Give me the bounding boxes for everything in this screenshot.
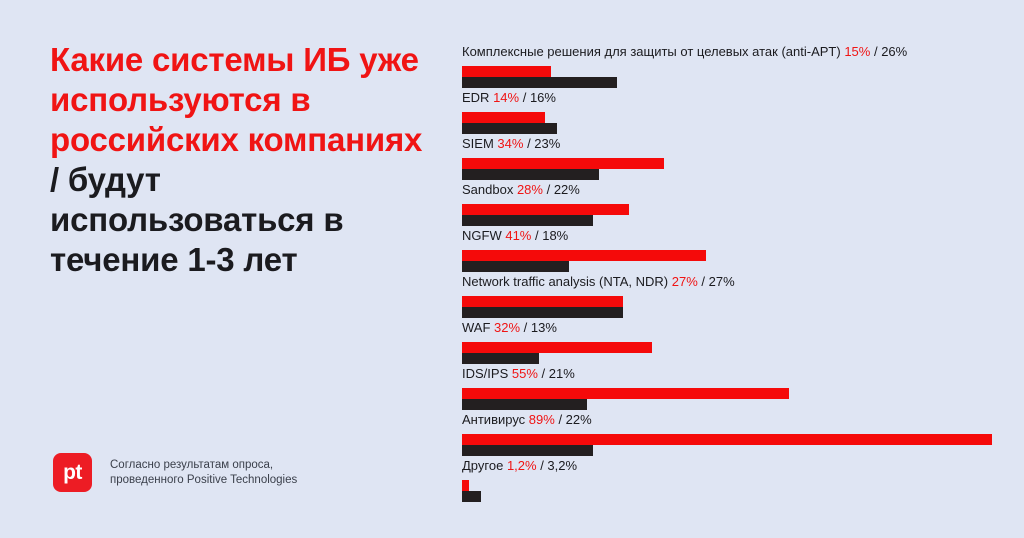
chart-row-planned-value: 22% (554, 182, 580, 197)
bar-current (462, 66, 551, 77)
chart-row-planned-value: 26% (881, 44, 907, 59)
chart-row-planned-value: 13% (531, 320, 557, 335)
chart-row-current-value: 34% (497, 136, 523, 151)
chart-row-label: SIEM 34% / 23% (462, 136, 1002, 152)
chart-row-current-value: 89% (529, 412, 555, 427)
chart-row-bars (462, 204, 1002, 226)
chart-row-bars (462, 296, 1002, 318)
chart-row-category: NGFW (462, 228, 502, 243)
chart-row-current-value: 1,2% (507, 458, 537, 473)
chart-row-bars (462, 112, 1002, 134)
chart-row-category: Network traffic analysis (NTA, NDR) (462, 274, 668, 289)
page-title: Какие системы ИБ уже используются в росс… (50, 40, 430, 280)
chart-row-bars (462, 342, 1002, 364)
chart-row: NGFW 41% / 18% (462, 228, 1002, 274)
chart-row-bars (462, 158, 1002, 180)
chart-row-bars (462, 388, 1002, 410)
chart-row: IDS/IPS 55% / 21% (462, 366, 1002, 412)
chart-row-bars (462, 480, 1002, 502)
bar-planned (462, 353, 539, 364)
chart-row-bars (462, 434, 1002, 456)
chart-row: Другое 1,2% / 3,2% (462, 458, 1002, 504)
chart-row-category: SIEM (462, 136, 494, 151)
logo-wordmark: pt (63, 462, 82, 483)
chart-row-current-value: 27% (672, 274, 698, 289)
chart-row-separator: / (870, 44, 881, 59)
bar-planned (462, 399, 587, 410)
chart-row: EDR 14% / 16% (462, 90, 1002, 136)
chart-row: WAF 32% / 13% (462, 320, 1002, 366)
chart-row-current-value: 28% (517, 182, 543, 197)
chart-row: Комплексные решения для защиты от целевы… (462, 44, 1002, 90)
bar-planned (462, 261, 569, 272)
chart-row-planned-value: 22% (566, 412, 592, 427)
chart-row-current-value: 14% (493, 90, 519, 105)
chart-row-label: Другое 1,2% / 3,2% (462, 458, 1002, 474)
chart-row-label: IDS/IPS 55% / 21% (462, 366, 1002, 382)
bar-planned (462, 169, 599, 180)
chart-row-label: Sandbox 28% / 22% (462, 182, 1002, 198)
chart-row-current-value: 41% (505, 228, 531, 243)
positive-technologies-logo: pt (53, 453, 92, 492)
chart-row-separator: / (531, 228, 542, 243)
chart-row-label: EDR 14% / 16% (462, 90, 1002, 106)
chart-row-label: Антивирус 89% / 22% (462, 412, 1002, 428)
bar-current (462, 480, 469, 491)
chart-row-label: Network traffic analysis (NTA, NDR) 27% … (462, 274, 1002, 290)
bar-current (462, 158, 664, 169)
bar-planned (462, 491, 481, 502)
chart-row-separator: / (519, 90, 530, 105)
bar-current (462, 112, 545, 123)
chart-row-planned-value: 21% (549, 366, 575, 381)
chart-row-planned-value: 23% (534, 136, 560, 151)
bar-current (462, 342, 652, 353)
headline-dark-segment: / будут использоваться в течение 1-3 лет (50, 161, 343, 278)
bar-current (462, 250, 706, 261)
chart-row-current-value: 32% (494, 320, 520, 335)
chart-row: Антивирус 89% / 22% (462, 412, 1002, 458)
bar-current (462, 204, 629, 215)
chart-row-label: NGFW 41% / 18% (462, 228, 1002, 244)
chart-row-category: Комплексные решения для защиты от целевы… (462, 44, 841, 59)
headline-red-segment: Какие системы ИБ уже используются в росс… (50, 41, 422, 158)
chart-row-planned-value: 3,2% (547, 458, 577, 473)
bar-planned (462, 445, 593, 456)
chart-row-label: Комплексные решения для защиты от целевы… (462, 44, 1002, 60)
chart-row-separator: / (520, 320, 531, 335)
chart-row-category: IDS/IPS (462, 366, 512, 381)
chart-row-bars (462, 66, 1002, 88)
bar-current (462, 434, 992, 445)
chart-row-planned-value: 18% (542, 228, 568, 243)
headline-panel: Какие системы ИБ уже используются в росс… (50, 40, 430, 280)
bar-current (462, 296, 623, 307)
bar-planned (462, 123, 557, 134)
chart-row-category: Другое (462, 458, 503, 473)
chart-row-separator: / (543, 182, 554, 197)
chart-row-separator: / (538, 366, 549, 381)
chart-row-separator: / (537, 458, 548, 473)
chart-row-separator: / (523, 136, 534, 151)
bar-chart: Комплексные решения для защиты от целевы… (462, 44, 1002, 504)
chart-row-separator: / (555, 412, 566, 427)
chart-row-current-value: 55% (512, 366, 538, 381)
chart-row-planned-value: 16% (530, 90, 556, 105)
chart-row: SIEM 34% / 23% (462, 136, 1002, 182)
chart-row-category: Sandbox (462, 182, 513, 197)
chart-row-category: Антивирус (462, 412, 525, 427)
attribution-text: Согласно результатам опроса, проведенног… (110, 458, 297, 488)
chart-row-current-value: 15% (844, 44, 870, 59)
chart-row-category: WAF (462, 320, 490, 335)
attribution-footer: pt Согласно результатам опроса, проведен… (53, 453, 297, 492)
chart-row-separator: / (698, 274, 709, 289)
chart-row-bars (462, 250, 1002, 272)
bar-planned (462, 307, 623, 318)
bar-planned (462, 77, 617, 88)
infographic-canvas: Какие системы ИБ уже используются в росс… (0, 0, 1024, 538)
bar-planned (462, 215, 593, 226)
chart-row-category: EDR (462, 90, 493, 105)
bar-current (462, 388, 789, 399)
chart-row-label: WAF 32% / 13% (462, 320, 1002, 336)
chart-row: Network traffic analysis (NTA, NDR) 27% … (462, 274, 1002, 320)
chart-row: Sandbox 28% / 22% (462, 182, 1002, 228)
chart-row-planned-value: 27% (709, 274, 735, 289)
